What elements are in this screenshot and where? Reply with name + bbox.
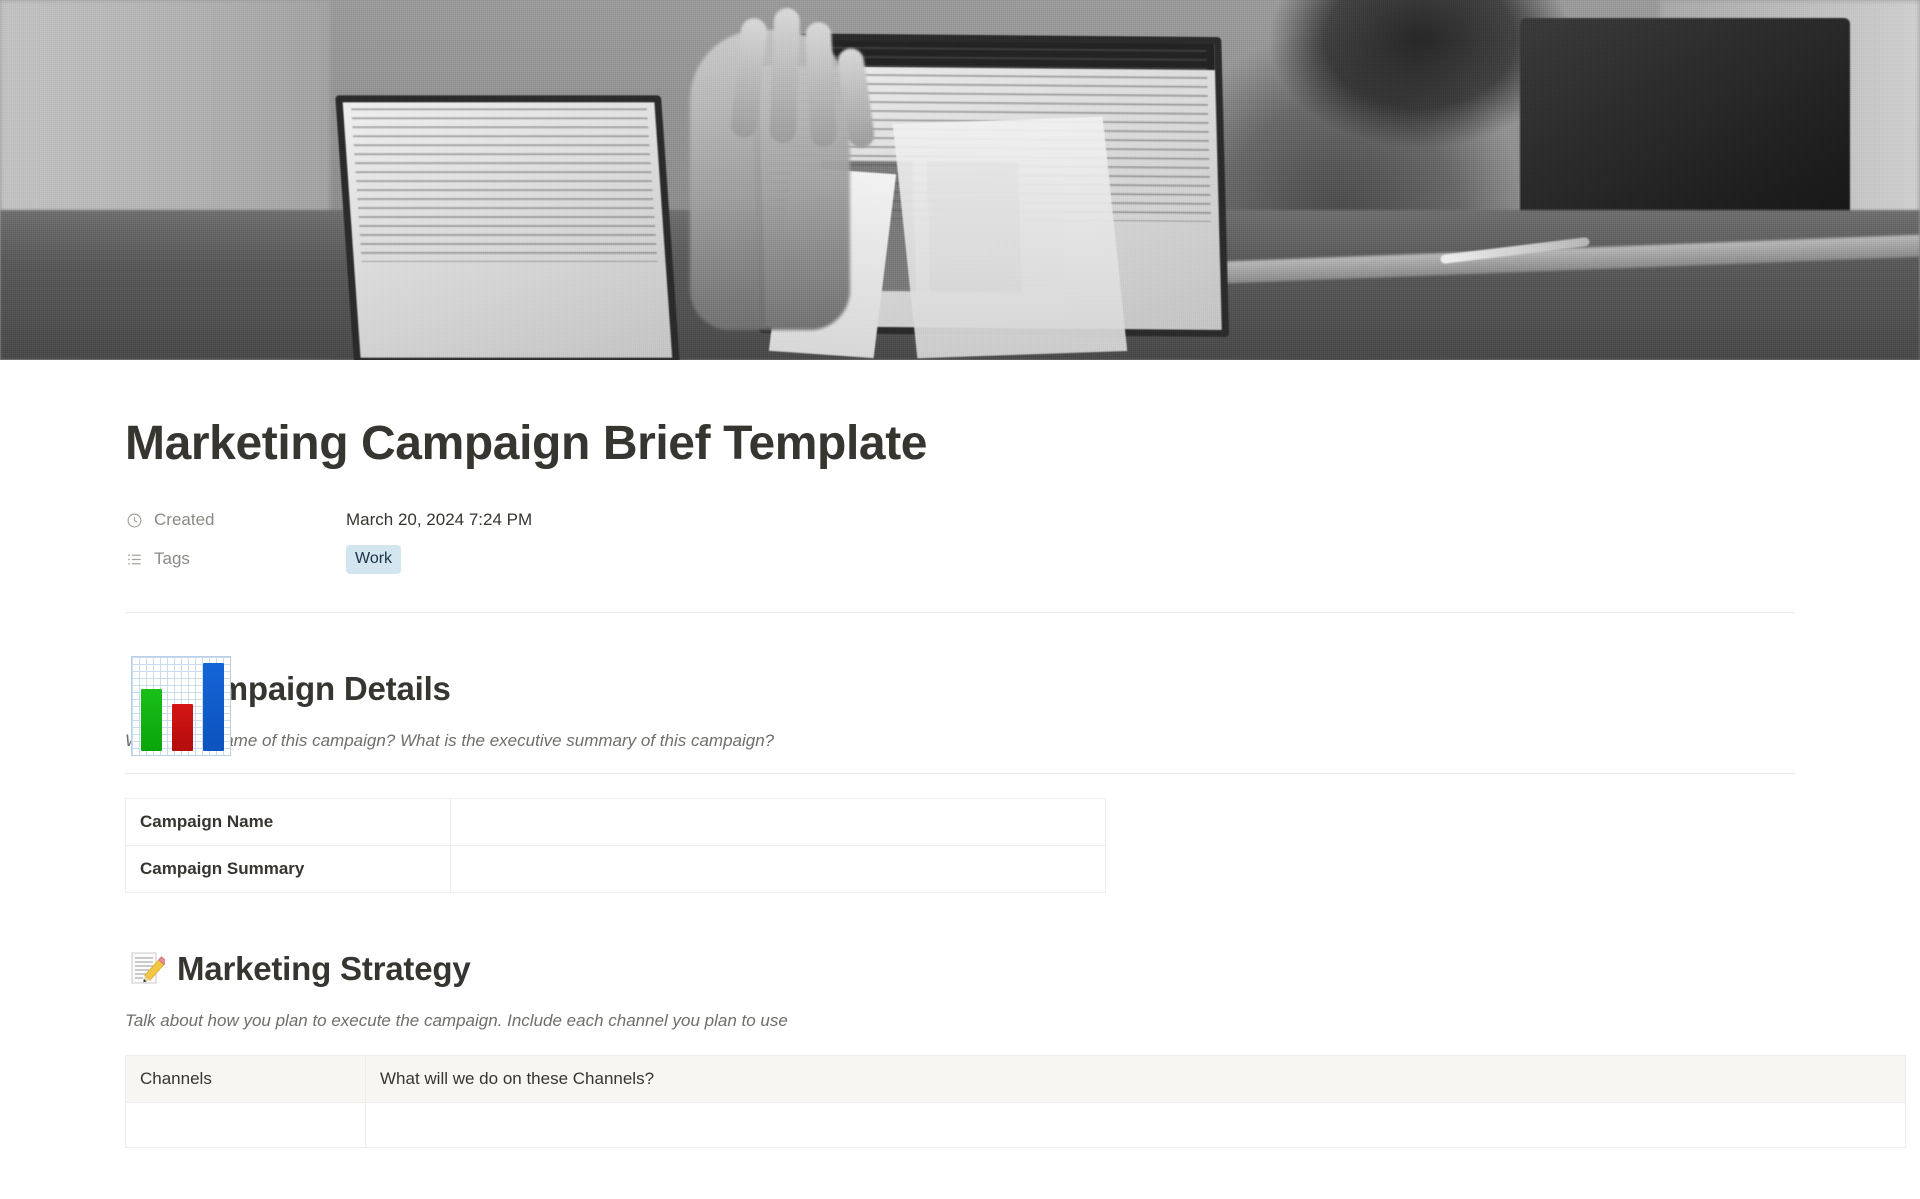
section-title-marketing-strategy: Marketing Strategy bbox=[177, 950, 470, 988]
list-icon bbox=[125, 550, 144, 569]
status-badge[interactable]: Work bbox=[346, 545, 401, 574]
section-heading-campaign-details[interactable]: Campaign Details bbox=[125, 669, 1795, 709]
cell-campaign-summary-value[interactable] bbox=[451, 845, 1106, 892]
column-header-channels[interactable]: Channels bbox=[126, 1055, 366, 1102]
property-value-created[interactable]: March 20, 2024 7:24 PM bbox=[346, 510, 532, 530]
cover-laptop-left bbox=[335, 95, 680, 360]
table-row[interactable]: Campaign Name bbox=[126, 798, 1106, 845]
page-content: Marketing Campaign Brief Template Create… bbox=[0, 360, 1920, 1148]
page-properties: Created March 20, 2024 7:24 PM Tags Work bbox=[125, 501, 1795, 579]
cell-campaign-summary-label[interactable]: Campaign Summary bbox=[126, 845, 451, 892]
cell-channel-plan-value[interactable] bbox=[366, 1102, 1906, 1147]
property-label-created[interactable]: Created bbox=[125, 510, 346, 530]
memo-icon bbox=[125, 949, 165, 989]
cell-campaign-name-value[interactable] bbox=[451, 798, 1106, 845]
cover-paper-right bbox=[893, 117, 1127, 359]
section-caption-campaign-details: What is the name of this campaign? What … bbox=[125, 731, 1795, 751]
page-title[interactable]: Marketing Campaign Brief Template bbox=[125, 418, 1795, 471]
bar-chart-red-bar bbox=[172, 704, 193, 751]
page-body: Marketing Campaign Brief Template Create… bbox=[0, 360, 1920, 1148]
property-name-created: Created bbox=[154, 510, 214, 530]
cover-finger bbox=[770, 8, 801, 144]
bar-chart-green-bar bbox=[141, 689, 162, 751]
marketing-channels-table: Channels What will we do on these Channe… bbox=[125, 1055, 1906, 1148]
clock-icon bbox=[125, 511, 144, 530]
property-name-tags: Tags bbox=[154, 549, 190, 569]
section-marketing-strategy: Marketing Strategy Talk about how you pl… bbox=[125, 949, 1795, 1148]
page-cover-image[interactable] bbox=[0, 0, 1920, 360]
bar-chart-emoji bbox=[131, 656, 231, 756]
campaign-details-table: Campaign Name Campaign Summary bbox=[125, 798, 1106, 893]
page-icon[interactable] bbox=[131, 656, 235, 770]
property-row-tags[interactable]: Tags Work bbox=[125, 540, 1795, 579]
cover-photo bbox=[0, 0, 1920, 360]
cell-campaign-name-label[interactable]: Campaign Name bbox=[126, 798, 451, 845]
properties-divider bbox=[125, 612, 1795, 613]
column-header-channel-plan[interactable]: What will we do on these Channels? bbox=[366, 1055, 1906, 1102]
section-heading-marketing-strategy[interactable]: Marketing Strategy bbox=[125, 949, 1795, 989]
cell-channel-value[interactable] bbox=[126, 1102, 366, 1147]
property-value-tags[interactable]: Work bbox=[346, 545, 401, 574]
section-caption-marketing-strategy: Talk about how you plan to execute the c… bbox=[125, 1011, 1795, 1031]
table-row[interactable]: Campaign Summary bbox=[126, 845, 1106, 892]
property-row-created[interactable]: Created March 20, 2024 7:24 PM bbox=[125, 501, 1795, 540]
bar-chart-blue-bar bbox=[203, 663, 224, 751]
section-divider-campaign-details bbox=[125, 773, 1795, 774]
section-campaign-details: Campaign Details What is the name of thi… bbox=[125, 669, 1795, 893]
table-row[interactable] bbox=[126, 1102, 1906, 1147]
property-label-tags[interactable]: Tags bbox=[125, 549, 346, 569]
table-header-row: Channels What will we do on these Channe… bbox=[126, 1055, 1906, 1102]
